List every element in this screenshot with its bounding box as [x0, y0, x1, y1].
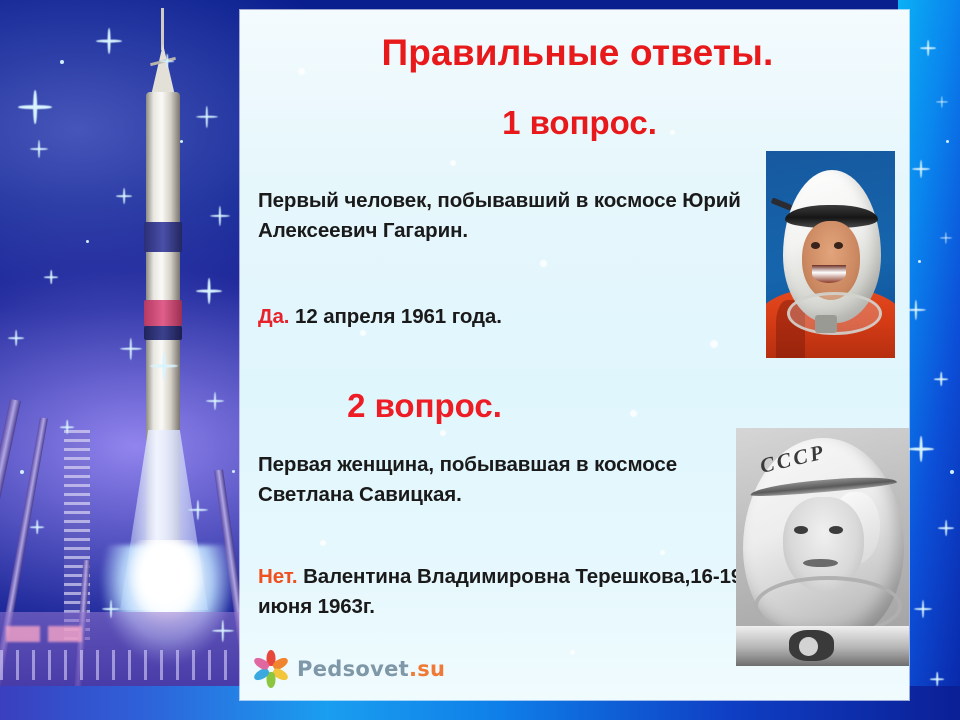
gagarin-eye-left	[811, 242, 820, 249]
rocket-band-dark	[144, 326, 182, 340]
question-1-answer: Да. 12 апреля 1961 года.	[258, 302, 783, 332]
question-2-verdict: Нет.	[258, 565, 297, 588]
pinwheel-flower-icon	[254, 652, 288, 686]
gagarin-face	[802, 221, 860, 300]
rocket-band-pink	[144, 300, 182, 326]
question-2-detail: Валентина Владимировна Терешкова,16-19 и…	[258, 565, 742, 618]
tereshkova-eye-right	[829, 526, 843, 534]
gagarin-helmet-latch	[815, 315, 837, 334]
launch-pad-fence	[0, 650, 250, 680]
question-1-verdict: Да.	[258, 305, 289, 328]
content-panel: Правильные ответы. 1 вопрос. Первый чело…	[240, 10, 909, 700]
photo-gagarin	[766, 151, 895, 358]
pedsovet-logo[interactable]: Pedsovet.su	[254, 652, 445, 686]
slide-root: Правильные ответы. 1 вопрос. Первый чело…	[0, 0, 960, 720]
slide-title: Правильные ответы.	[240, 32, 909, 74]
logo-name: Pedsovet	[297, 657, 409, 681]
question-2-statement: Первая женщина, побывавшая в космосе Све…	[258, 450, 758, 511]
tereshkova-mouth	[803, 559, 838, 567]
photo-tereshkova: СССР	[736, 428, 909, 666]
pad-light-2	[48, 626, 82, 642]
question-1-heading: 1 вопрос.	[240, 104, 909, 142]
pad-light-1	[6, 626, 40, 642]
question-1-detail: 12 апреля 1961 года.	[295, 305, 502, 328]
question-2-answer: Нет. Валентина Владимировна Терешкова,16…	[258, 562, 778, 623]
rocket-band-blue	[144, 222, 182, 252]
question-1-statement: Первый человек, побывавший в космосе Юри…	[258, 186, 783, 247]
tereshkova-eye-left	[794, 526, 808, 534]
logo-tld: .su	[409, 657, 445, 681]
gagarin-eye-right	[834, 242, 843, 249]
question-2-heading: 2 вопрос.	[240, 387, 609, 425]
logo-text: Pedsovet.su	[297, 657, 445, 681]
rocket-launch-illustration	[0, 0, 250, 720]
